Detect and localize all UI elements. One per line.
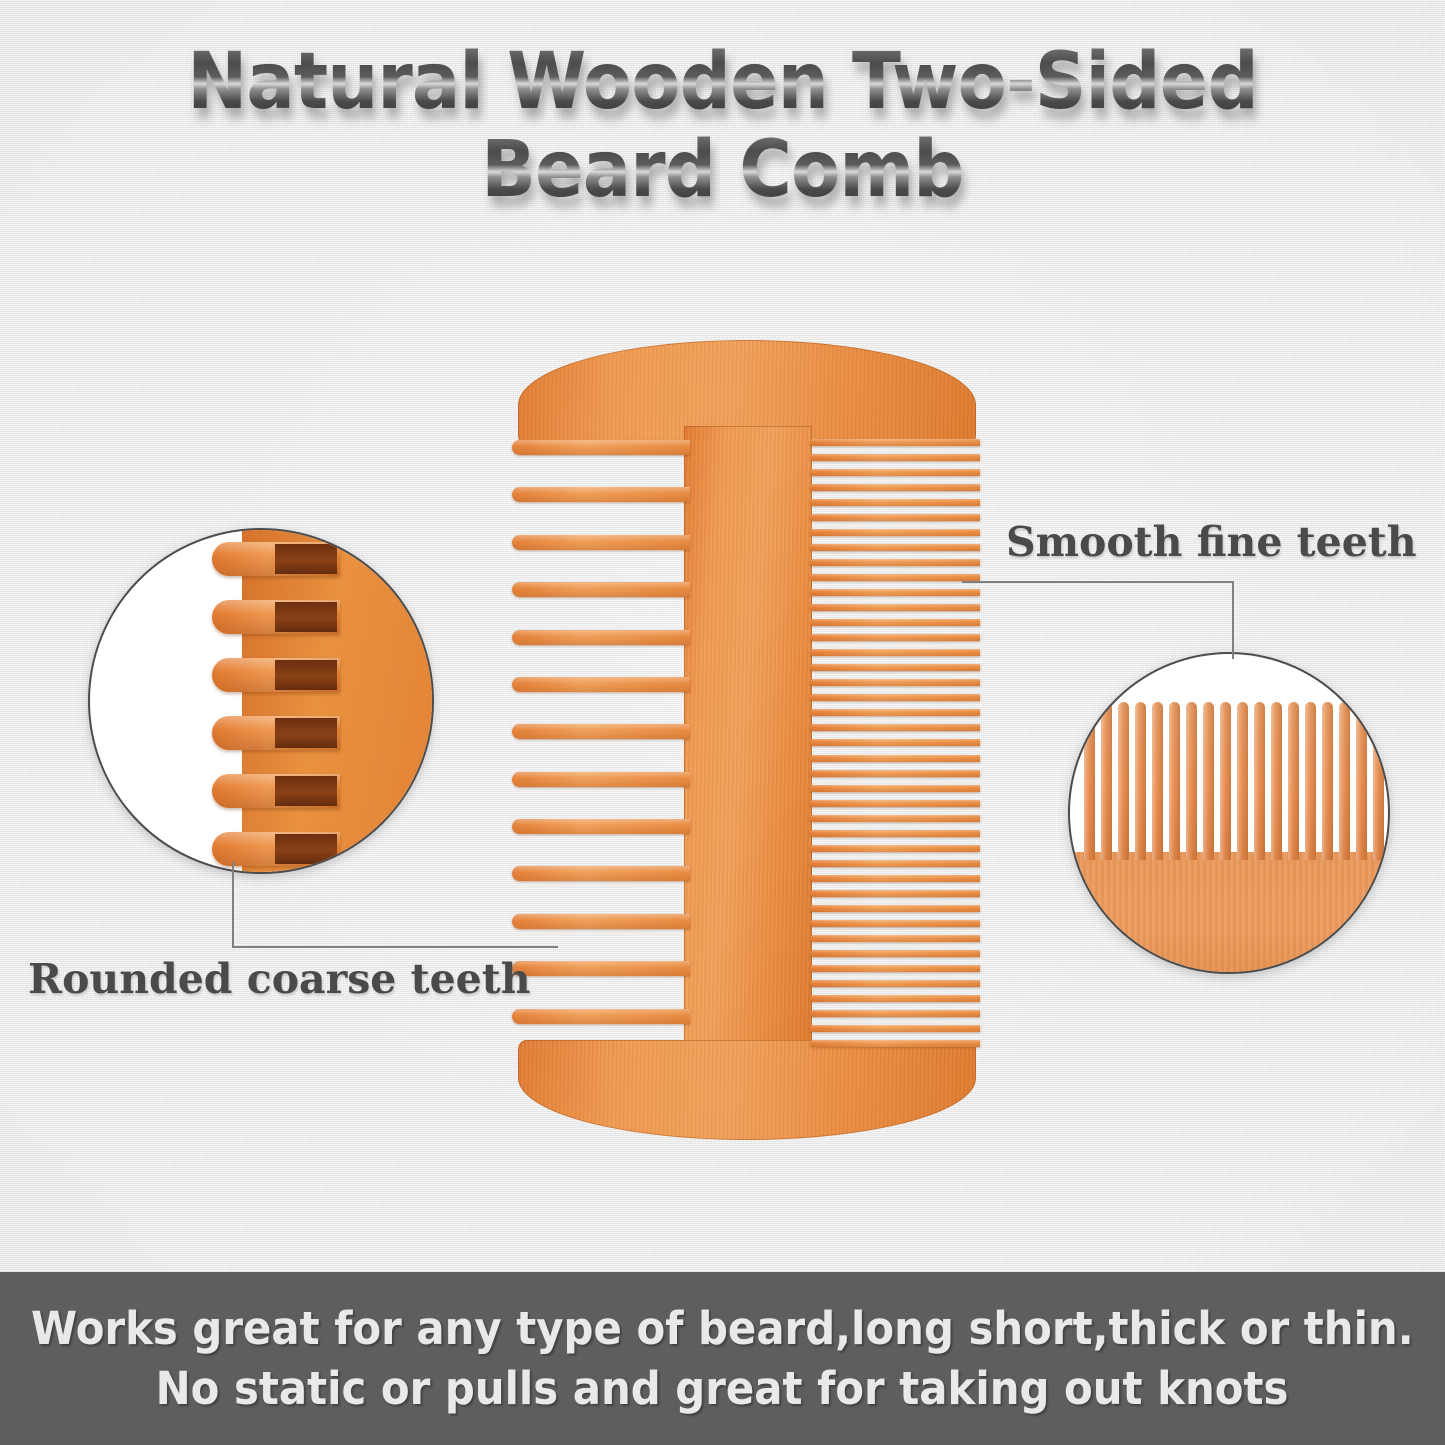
- zoom-fine-tooth: [1356, 702, 1367, 860]
- fine-tooth: [810, 559, 980, 566]
- zoom-fine-tooth: [1118, 702, 1129, 860]
- fine-tooth: [810, 1040, 980, 1047]
- comb-coarse-teeth-group: [512, 436, 690, 1052]
- coarse-tooth: [512, 582, 690, 597]
- fine-tooth: [810, 664, 980, 671]
- fine-tooth: [810, 454, 980, 461]
- zoom-coarse-slot: [275, 718, 337, 748]
- zoom-coarse-slot: [275, 660, 337, 690]
- comb-center-spine: [684, 426, 812, 1056]
- coarse-tooth: [512, 819, 690, 834]
- fine-tooth: [810, 860, 980, 867]
- zoom-fine-tooth: [1135, 702, 1146, 860]
- coarse-tooth: [512, 866, 690, 881]
- infographic-page: Natural Wooden Two-Sided Beard Comb Roun…: [0, 0, 1445, 1445]
- fine-tooth: [810, 634, 980, 641]
- zoom-fine-comb-body: [1068, 852, 1390, 974]
- zoom-fine-tooth: [1220, 702, 1231, 860]
- fine-tooth: [810, 529, 980, 536]
- fine-tooth: [810, 439, 980, 446]
- zoom-fine-tooth: [1288, 702, 1299, 860]
- coarse-tooth: [512, 961, 690, 976]
- fine-tooth: [810, 920, 980, 927]
- zoom-fine-tooth: [1271, 702, 1282, 860]
- leader-line-coarse-horizontal: [232, 946, 558, 948]
- callout-label-fine-teeth: Smooth fine teeth: [1006, 518, 1417, 566]
- fine-tooth: [810, 815, 980, 822]
- fine-tooth: [810, 499, 980, 506]
- zoom-fine-tooth: [1186, 702, 1197, 860]
- fine-tooth: [810, 890, 980, 897]
- fine-tooth: [810, 965, 980, 972]
- leader-line-coarse-vertical: [232, 862, 234, 948]
- comb-fine-teeth-group: [810, 436, 980, 1052]
- footer-line-2: No static or pulls and great for taking …: [156, 1359, 1289, 1419]
- fine-tooth: [810, 484, 980, 491]
- title-line-2: Beard Comb: [58, 126, 1387, 214]
- coarse-tooth: [512, 914, 690, 929]
- fine-tooth: [810, 649, 980, 656]
- fine-tooth: [810, 1010, 980, 1017]
- zoom-fine-tooth: [1169, 702, 1180, 860]
- fine-tooth: [810, 709, 980, 716]
- coarse-tooth: [512, 440, 690, 455]
- zoom-fine-tooth: [1322, 702, 1333, 860]
- fine-tooth: [810, 800, 980, 807]
- beard-comb-product-image: [512, 340, 982, 1140]
- coarse-tooth: [512, 1009, 690, 1024]
- callout-label-coarse-teeth: Rounded coarse teeth: [28, 955, 531, 1003]
- comb-bottom-bar: [518, 1040, 976, 1140]
- fine-tooth: [810, 1025, 980, 1032]
- fine-tooth: [810, 619, 980, 626]
- fine-tooth: [810, 830, 980, 837]
- zoom-coarse-slot: [275, 776, 337, 806]
- zoom-coarse-slot: [275, 602, 337, 632]
- zoom-fine-tooth: [1203, 702, 1214, 860]
- callout-circle-coarse-teeth: [88, 528, 434, 874]
- fine-tooth: [810, 905, 980, 912]
- leader-line-fine-horizontal: [962, 581, 1234, 583]
- zoom-fine-tooth: [1373, 702, 1384, 860]
- fine-tooth: [810, 469, 980, 476]
- coarse-tooth: [512, 772, 690, 787]
- page-title: Natural Wooden Two-Sided Beard Comb: [0, 38, 1445, 214]
- zoom-fine-tooth: [1339, 702, 1350, 860]
- zoom-coarse-slot: [275, 834, 337, 864]
- coarse-tooth: [512, 535, 690, 550]
- fine-tooth: [810, 980, 980, 987]
- fine-tooth: [810, 995, 980, 1002]
- coarse-tooth: [512, 630, 690, 645]
- zoom-coarse-slot: [275, 544, 337, 574]
- zoom-fine-tooth: [1084, 702, 1095, 860]
- callout-circle-fine-teeth: [1068, 652, 1390, 974]
- zoom-fine-tooth: [1254, 702, 1265, 860]
- leader-line-fine-vertical: [1232, 581, 1234, 659]
- fine-tooth: [810, 589, 980, 596]
- fine-tooth: [810, 604, 980, 611]
- zoom-fine-tooth: [1237, 702, 1248, 860]
- fine-tooth: [810, 544, 980, 551]
- fine-tooth: [810, 755, 980, 762]
- fine-tooth: [810, 785, 980, 792]
- fine-tooth: [810, 875, 980, 882]
- coarse-tooth: [512, 487, 690, 502]
- zoom-coarse-comb-body: [242, 528, 434, 874]
- fine-tooth: [810, 724, 980, 731]
- fine-tooth: [810, 845, 980, 852]
- fine-tooth: [810, 739, 980, 746]
- zoom-fine-tooth: [1152, 702, 1163, 860]
- fine-tooth: [810, 770, 980, 777]
- coarse-tooth: [512, 724, 690, 739]
- zoom-fine-tooth: [1305, 702, 1316, 860]
- fine-tooth: [810, 950, 980, 957]
- zoom-fine-tooth: [1101, 702, 1112, 860]
- footer-line-1: Works great for any type of beard,long s…: [31, 1299, 1414, 1359]
- fine-tooth: [810, 679, 980, 686]
- coarse-tooth: [512, 677, 690, 692]
- fine-tooth: [810, 514, 980, 521]
- fine-tooth: [810, 694, 980, 701]
- fine-tooth: [810, 574, 980, 581]
- footer-banner: Works great for any type of beard,long s…: [0, 1272, 1445, 1445]
- fine-tooth: [810, 935, 980, 942]
- title-line-1: Natural Wooden Two-Sided: [58, 38, 1387, 126]
